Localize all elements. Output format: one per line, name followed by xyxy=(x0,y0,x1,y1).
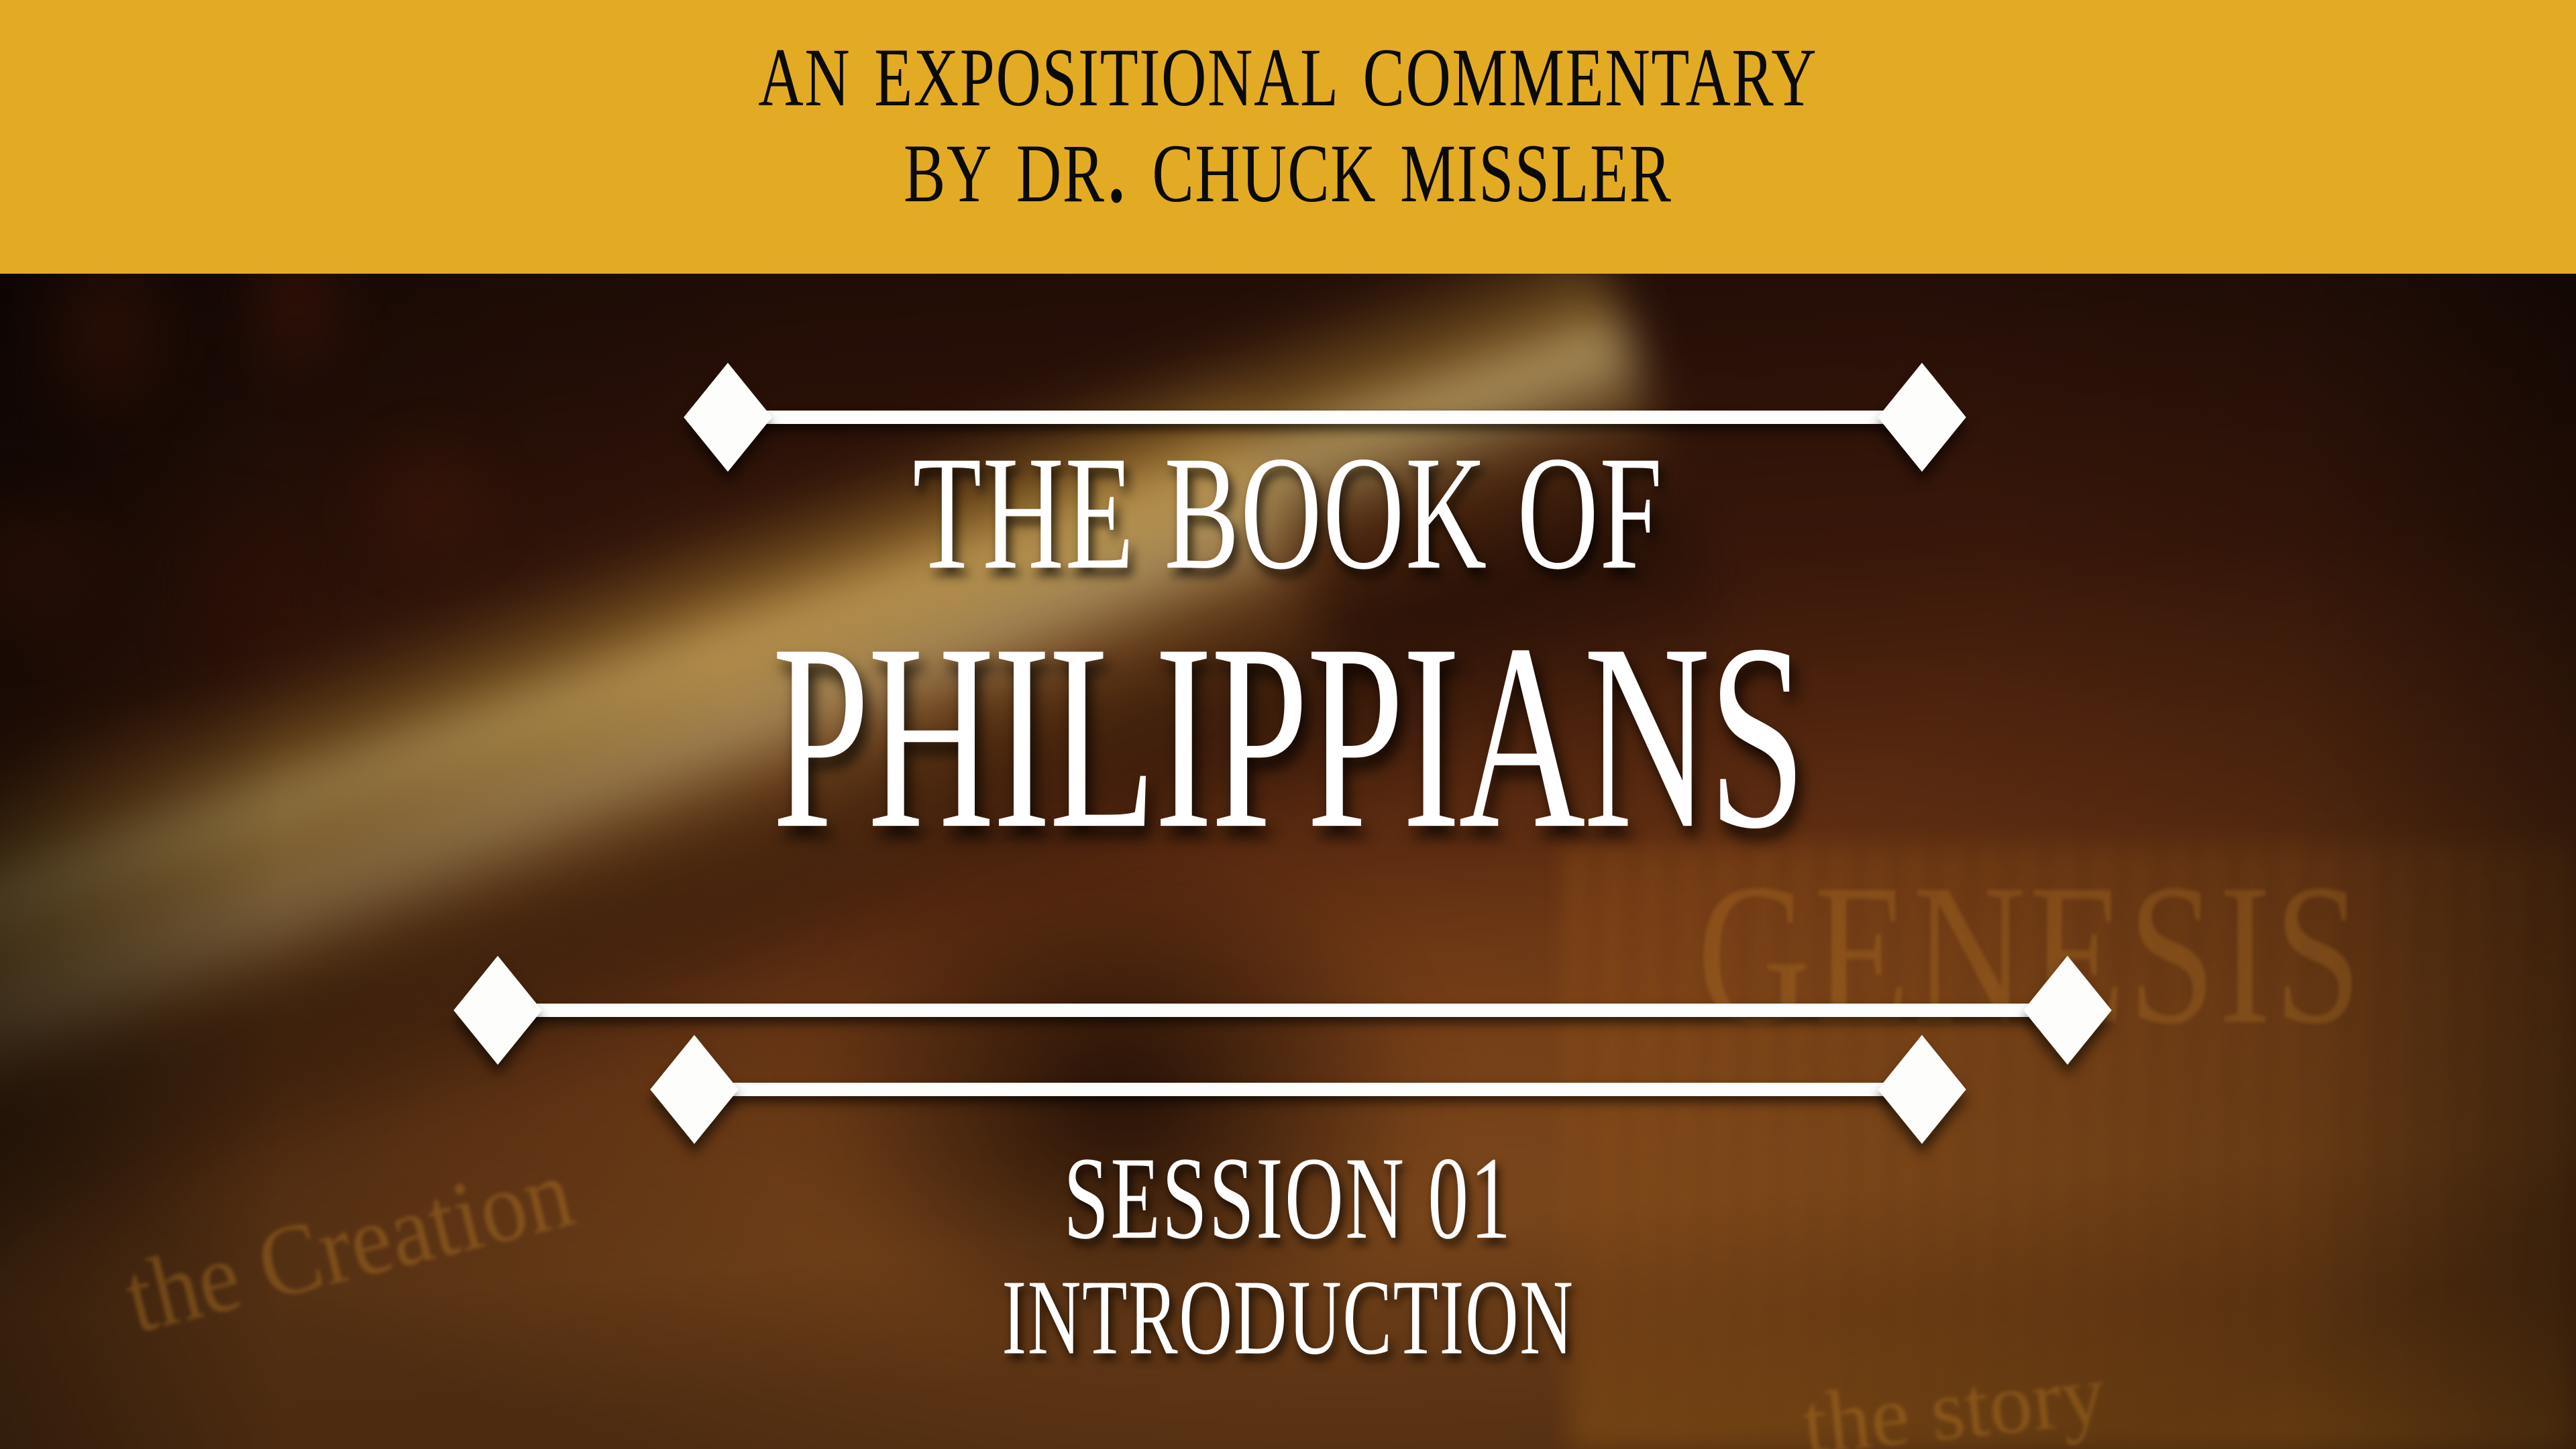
book-cover-slide: GENESIS the Creation the story AN EXPOSI… xyxy=(0,0,2576,1449)
divider-middle-left-diamond-icon xyxy=(453,956,542,1065)
divider-top-bar xyxy=(728,411,1922,424)
commentary-banner: AN EXPOSITIONAL COMMENTARY BY DR. CHUCK … xyxy=(0,0,2576,274)
session-subtitle: INTRODUCTION xyxy=(258,1264,2318,1371)
session-label: SESSION 01 xyxy=(258,1139,2318,1257)
divider-bottom-left-diamond-icon xyxy=(650,1035,739,1144)
banner-line-2: BY DR. CHUCK MISSLER xyxy=(904,101,1672,222)
divider-bottom-bar xyxy=(694,1083,1922,1096)
cover-title: PHILIPPIANS xyxy=(283,508,2292,888)
divider-middle-right-diamond-icon xyxy=(2023,956,2112,1065)
divider-middle-bar xyxy=(498,1004,2068,1017)
divider-bottom-right-diamond-icon xyxy=(1878,1035,1966,1144)
